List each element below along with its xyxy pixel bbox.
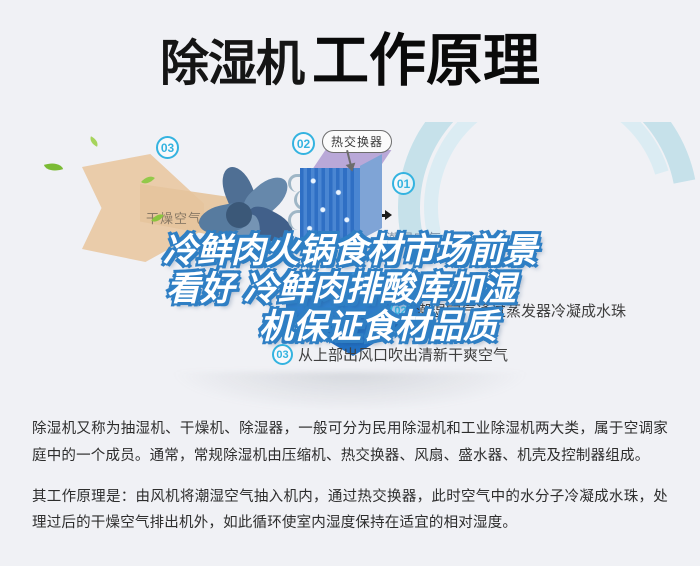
page-header: 除湿机 工作原理 xyxy=(0,0,700,122)
water-tank-label: 水箱 xyxy=(322,308,348,325)
legend-text-02: 潮湿空气通过蒸发器冷凝成水珠 xyxy=(416,300,626,321)
page-title-part-1: 除湿机 xyxy=(160,40,304,89)
page-title: 除湿机 工作原理 xyxy=(160,33,540,90)
dehumidifier-diagram: 干燥空气 水箱 潮湿空气 03 02 01 热交换器 02 潮湿空气通过蒸发器冷… xyxy=(0,122,700,410)
badge-02: 02 xyxy=(292,132,315,155)
heat-exchanger-callout: 热交换器 xyxy=(322,130,392,153)
badge-01: 01 xyxy=(392,172,415,195)
legend-badge-03: 03 xyxy=(272,344,293,365)
badge-03: 03 xyxy=(156,136,179,159)
leaf-icon xyxy=(88,136,100,147)
ground-shadow xyxy=(170,372,530,410)
page-title-part-2: 工作原理 xyxy=(312,33,540,90)
article-body: 除湿机又称为抽湿机、干燥机、除湿器，一般可分为民用除湿机和工业除湿机两大类，属于… xyxy=(0,416,700,537)
leaf-icon xyxy=(44,160,63,175)
fan-illustration xyxy=(186,158,296,266)
humid-air-label: 潮湿空气 xyxy=(386,228,442,247)
heat-exchanger-side xyxy=(360,154,382,240)
article-paragraph-1: 除湿机又称为抽湿机、干燥机、除湿器，一般可分为民用除湿机和工业除湿机两大类，属于… xyxy=(32,416,668,470)
article-paragraph-2: 其工作原理是：由风机将潮湿空气抽入机内，通过热交换器，此时空气中的水分子冷凝成水… xyxy=(32,484,668,538)
fan-hub xyxy=(226,202,252,228)
legend-text-03: 从上部出风口吹出清新干爽空气 xyxy=(298,344,508,365)
legend-badge-02: 02 xyxy=(390,300,411,321)
heat-exchanger-body xyxy=(300,168,360,240)
